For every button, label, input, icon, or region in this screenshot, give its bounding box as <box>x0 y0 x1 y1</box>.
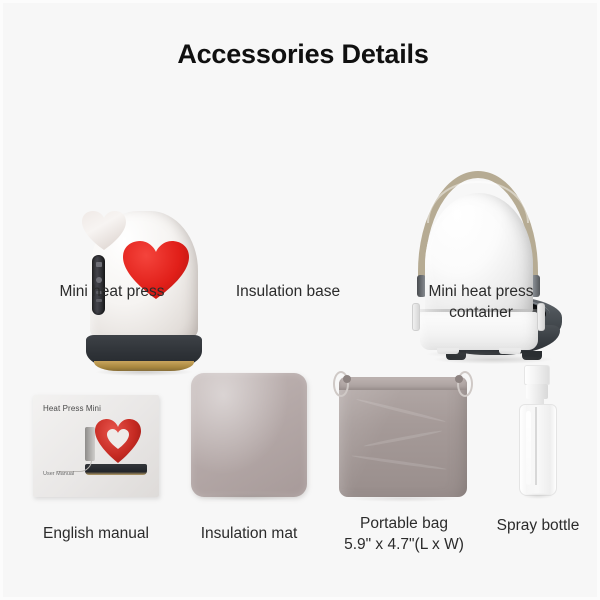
bottle-dip-tube <box>535 407 537 485</box>
bottle-body <box>519 404 557 496</box>
accessory-label: Mini heat press container <box>391 281 571 323</box>
accessory-dimensions: 5.9" x 4.7"(L x W) <box>331 534 477 555</box>
bag-eyelet <box>455 375 463 383</box>
insulation-mat-illustration <box>191 373 307 497</box>
product-accessories-image: Accessories Details Mini heat press <box>0 0 600 600</box>
page-title: Accessories Details <box>3 39 600 70</box>
accessory-label: English manual <box>21 523 171 544</box>
spray-nozzle-collar <box>526 384 548 399</box>
accessory-mini-heat-press-container: Mini heat press container <box>391 83 571 323</box>
accessory-insulation-base: Insulation base <box>208 103 368 313</box>
portable-bag-illustration <box>333 369 473 499</box>
manual-cover-title: Heat Press Mini <box>43 404 101 413</box>
spray-bottle-illustration <box>515 365 561 499</box>
accessory-label: Insulation base <box>208 281 368 302</box>
container-illustration <box>401 171 556 353</box>
manual-cover-device <box>85 427 95 461</box>
manual-illustration: Heat Press Mini User Manual <box>33 395 159 497</box>
accessory-label: Mini heat press <box>35 281 189 302</box>
drop-shadow <box>347 495 459 502</box>
manual-cover-subtitle: User Manual <box>43 471 74 477</box>
drop-shadow <box>197 493 301 501</box>
bottle-highlight <box>526 411 531 485</box>
accessory-spray-bottle: Spray bottle <box>483 359 593 549</box>
accessory-mini-heat-press: Mini heat press <box>35 103 189 313</box>
accessory-label: Portable bag 5.9" x 4.7"(L x W) <box>331 513 477 555</box>
mat-surface <box>191 373 307 497</box>
accessory-insulation-mat: Insulation mat <box>175 369 323 559</box>
spray-cap <box>524 365 550 385</box>
accessory-label: Insulation mat <box>175 523 323 544</box>
accessory-english-manual: Heat Press Mini User Manual English manu… <box>21 383 171 563</box>
accessory-portable-bag: Portable bag 5.9" x 4.7"(L x W) <box>331 363 477 563</box>
bag-top-fold <box>339 377 467 390</box>
manual-cover-cord <box>57 457 92 472</box>
drop-shadow <box>523 493 553 499</box>
manual-cover-base <box>85 464 147 475</box>
display-icon <box>96 262 102 267</box>
drop-shadow <box>427 350 531 358</box>
bag-eyelet <box>343 375 351 383</box>
accessory-label: Spray bottle <box>483 515 593 536</box>
